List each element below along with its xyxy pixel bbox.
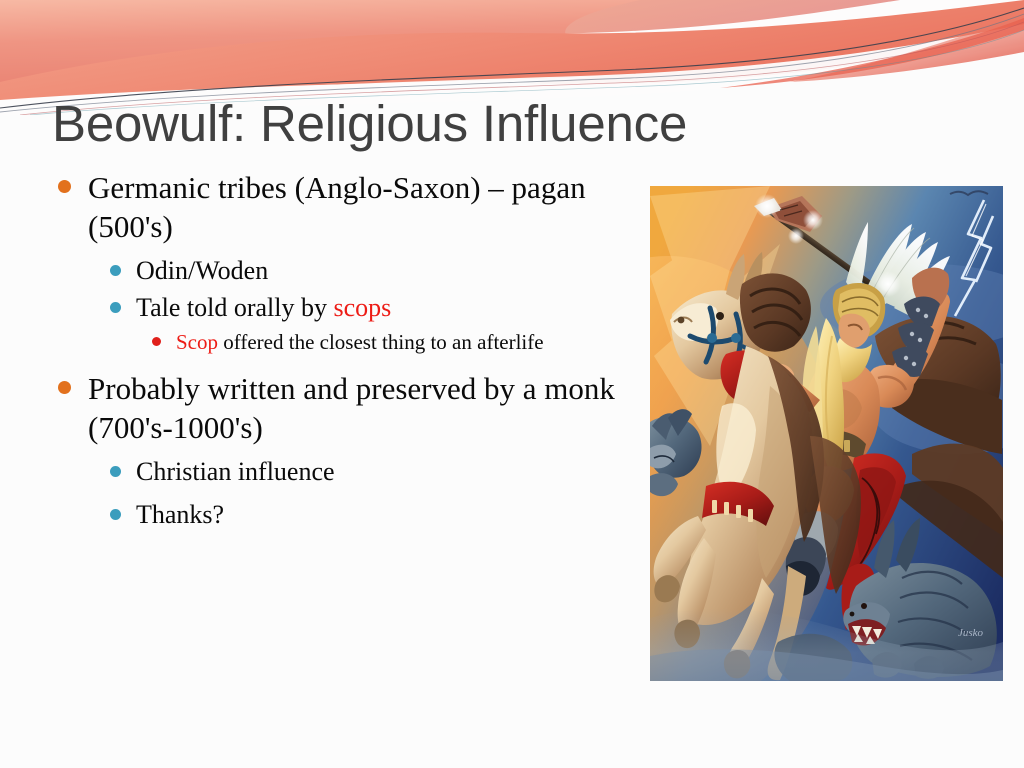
bullet-marker-level2-icon xyxy=(110,509,121,520)
term-scop: Scop xyxy=(176,330,218,354)
bullet-odin-woden: Odin/Woden xyxy=(48,254,648,288)
spacer xyxy=(48,358,648,369)
slide: Beowulf: Religious Influence Germanic tr… xyxy=(0,0,1024,768)
bullet-marker-level1-icon xyxy=(58,180,71,193)
bullet-list: Germanic tribes (Anglo-Saxon) – pagan (5… xyxy=(48,168,648,535)
term-scops: scops xyxy=(333,293,391,322)
bullet-marker-level2-icon xyxy=(110,265,121,276)
bullet-text: Probably written and preserved by a monk… xyxy=(88,369,648,447)
page-title: Beowulf: Religious Influence xyxy=(52,96,952,152)
bullet-text-plain: Tale told orally by xyxy=(136,293,333,322)
bullet-text: Tale told orally by scops xyxy=(136,291,648,325)
bullet-marker-level2-icon xyxy=(110,302,121,313)
odin-riding-sleipnir-painting: Jusko xyxy=(650,186,1003,681)
bullet-text-plain: offered the closest thing to an afterlif… xyxy=(218,330,544,354)
bullet-thanks: Thanks? xyxy=(48,498,648,532)
bullet-christian-influence: Christian influence xyxy=(48,455,648,489)
bullet-scop-afterlife: Scop offered the closest thing to an aft… xyxy=(48,328,648,356)
svg-text:Jusko: Jusko xyxy=(958,627,984,639)
bullet-text: Thanks? xyxy=(136,498,648,532)
bullet-marker-level1-icon xyxy=(58,381,71,394)
bullet-text: Odin/Woden xyxy=(136,254,648,288)
bullet-marker-level2-icon xyxy=(110,466,121,477)
bullet-text: Christian influence xyxy=(136,455,648,489)
bullet-marker-level3-icon xyxy=(152,337,161,346)
bullet-text: Germanic tribes (Anglo-Saxon) – pagan (5… xyxy=(88,168,648,246)
bullet-text: Scop offered the closest thing to an aft… xyxy=(176,328,648,356)
bullet-written-by-monk: Probably written and preserved by a monk… xyxy=(48,369,648,447)
bullet-tale-told-orally: Tale told orally by scops xyxy=(48,291,648,325)
bullet-germanic-tribes: Germanic tribes (Anglo-Saxon) – pagan (5… xyxy=(48,168,648,246)
